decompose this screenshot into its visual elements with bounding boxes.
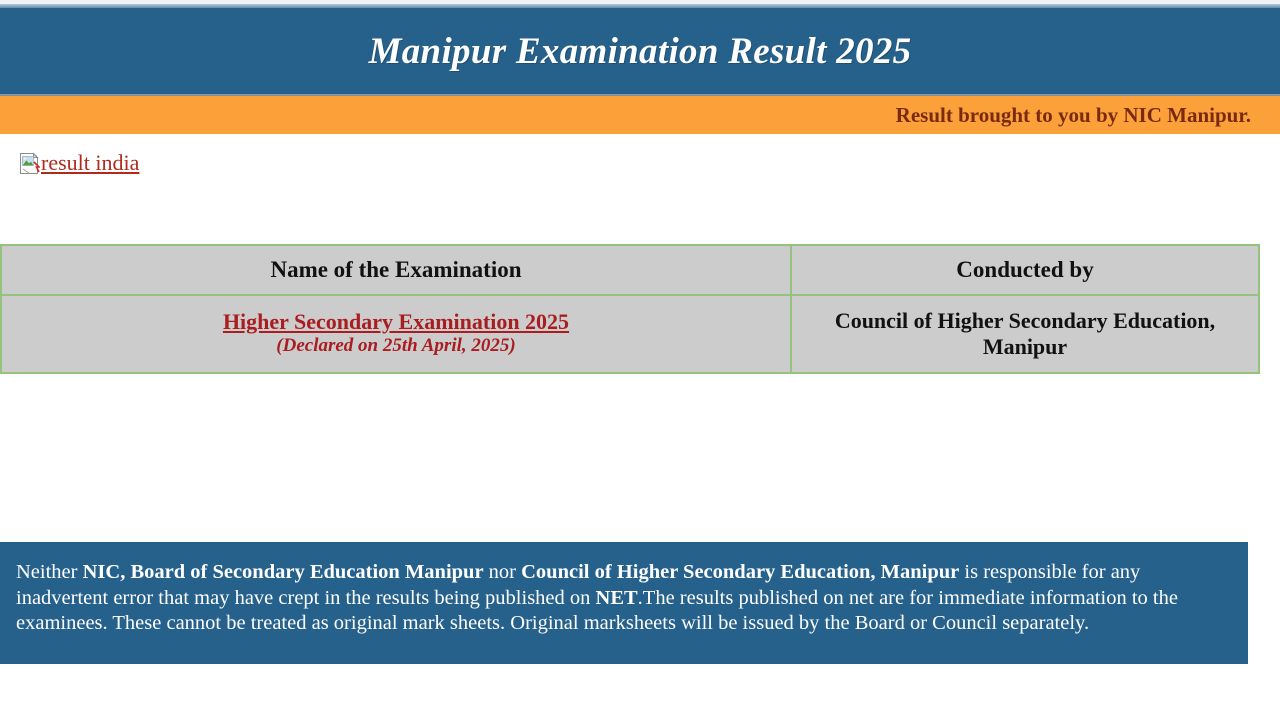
- content-spacer: [0, 374, 1280, 542]
- result-table-wrapper: Name of the Examination Conducted by Hig…: [0, 244, 1280, 374]
- disclaimer-text-1: Neither: [16, 561, 83, 583]
- table-row: Higher Secondary Examination 2025 (Decla…: [1, 295, 1259, 373]
- credit-bar-text: Result brought to you by NIC Manipur.: [896, 103, 1280, 128]
- column-header-conducted-by: Conducted by: [791, 245, 1259, 295]
- broken-image-icon: [20, 153, 40, 174]
- exam-result-link[interactable]: Higher Secondary Examination 2025: [10, 310, 782, 335]
- page-title: Manipur Examination Result 2025: [369, 30, 912, 73]
- exam-declared-date: (Declared on 25th April, 2025): [10, 335, 782, 358]
- credit-bar: Result brought to you by NIC Manipur.: [0, 95, 1280, 134]
- cell-exam-name: Higher Secondary Examination 2025 (Decla…: [1, 295, 791, 373]
- page-header-banner: Manipur Examination Result 2025: [0, 8, 1280, 95]
- result-india-broken-image-link[interactable]: result india: [20, 152, 139, 174]
- disclaimer-text-2: nor: [484, 561, 522, 583]
- disclaimer-bold-2: Council of Higher Secondary Education, M…: [521, 561, 959, 583]
- cell-conducted-by: Council of Higher Secondary Education, M…: [791, 295, 1259, 373]
- disclaimer-bold-3: NET: [596, 587, 638, 609]
- broken-image-alt-text: result india: [41, 152, 139, 173]
- examination-result-table: Name of the Examination Conducted by Hig…: [0, 244, 1260, 374]
- disclaimer-bold-1: NIC, Board of Secondary Education Manipu…: [83, 561, 484, 583]
- conducting-body-name: Council of Higher Secondary Education, M…: [835, 308, 1215, 359]
- table-header-row: Name of the Examination Conducted by: [1, 245, 1259, 295]
- logo-row: result india: [0, 134, 1280, 244]
- disclaimer-block: Neither NIC, Board of Secondary Educatio…: [0, 542, 1248, 664]
- column-header-exam-name: Name of the Examination: [1, 245, 791, 295]
